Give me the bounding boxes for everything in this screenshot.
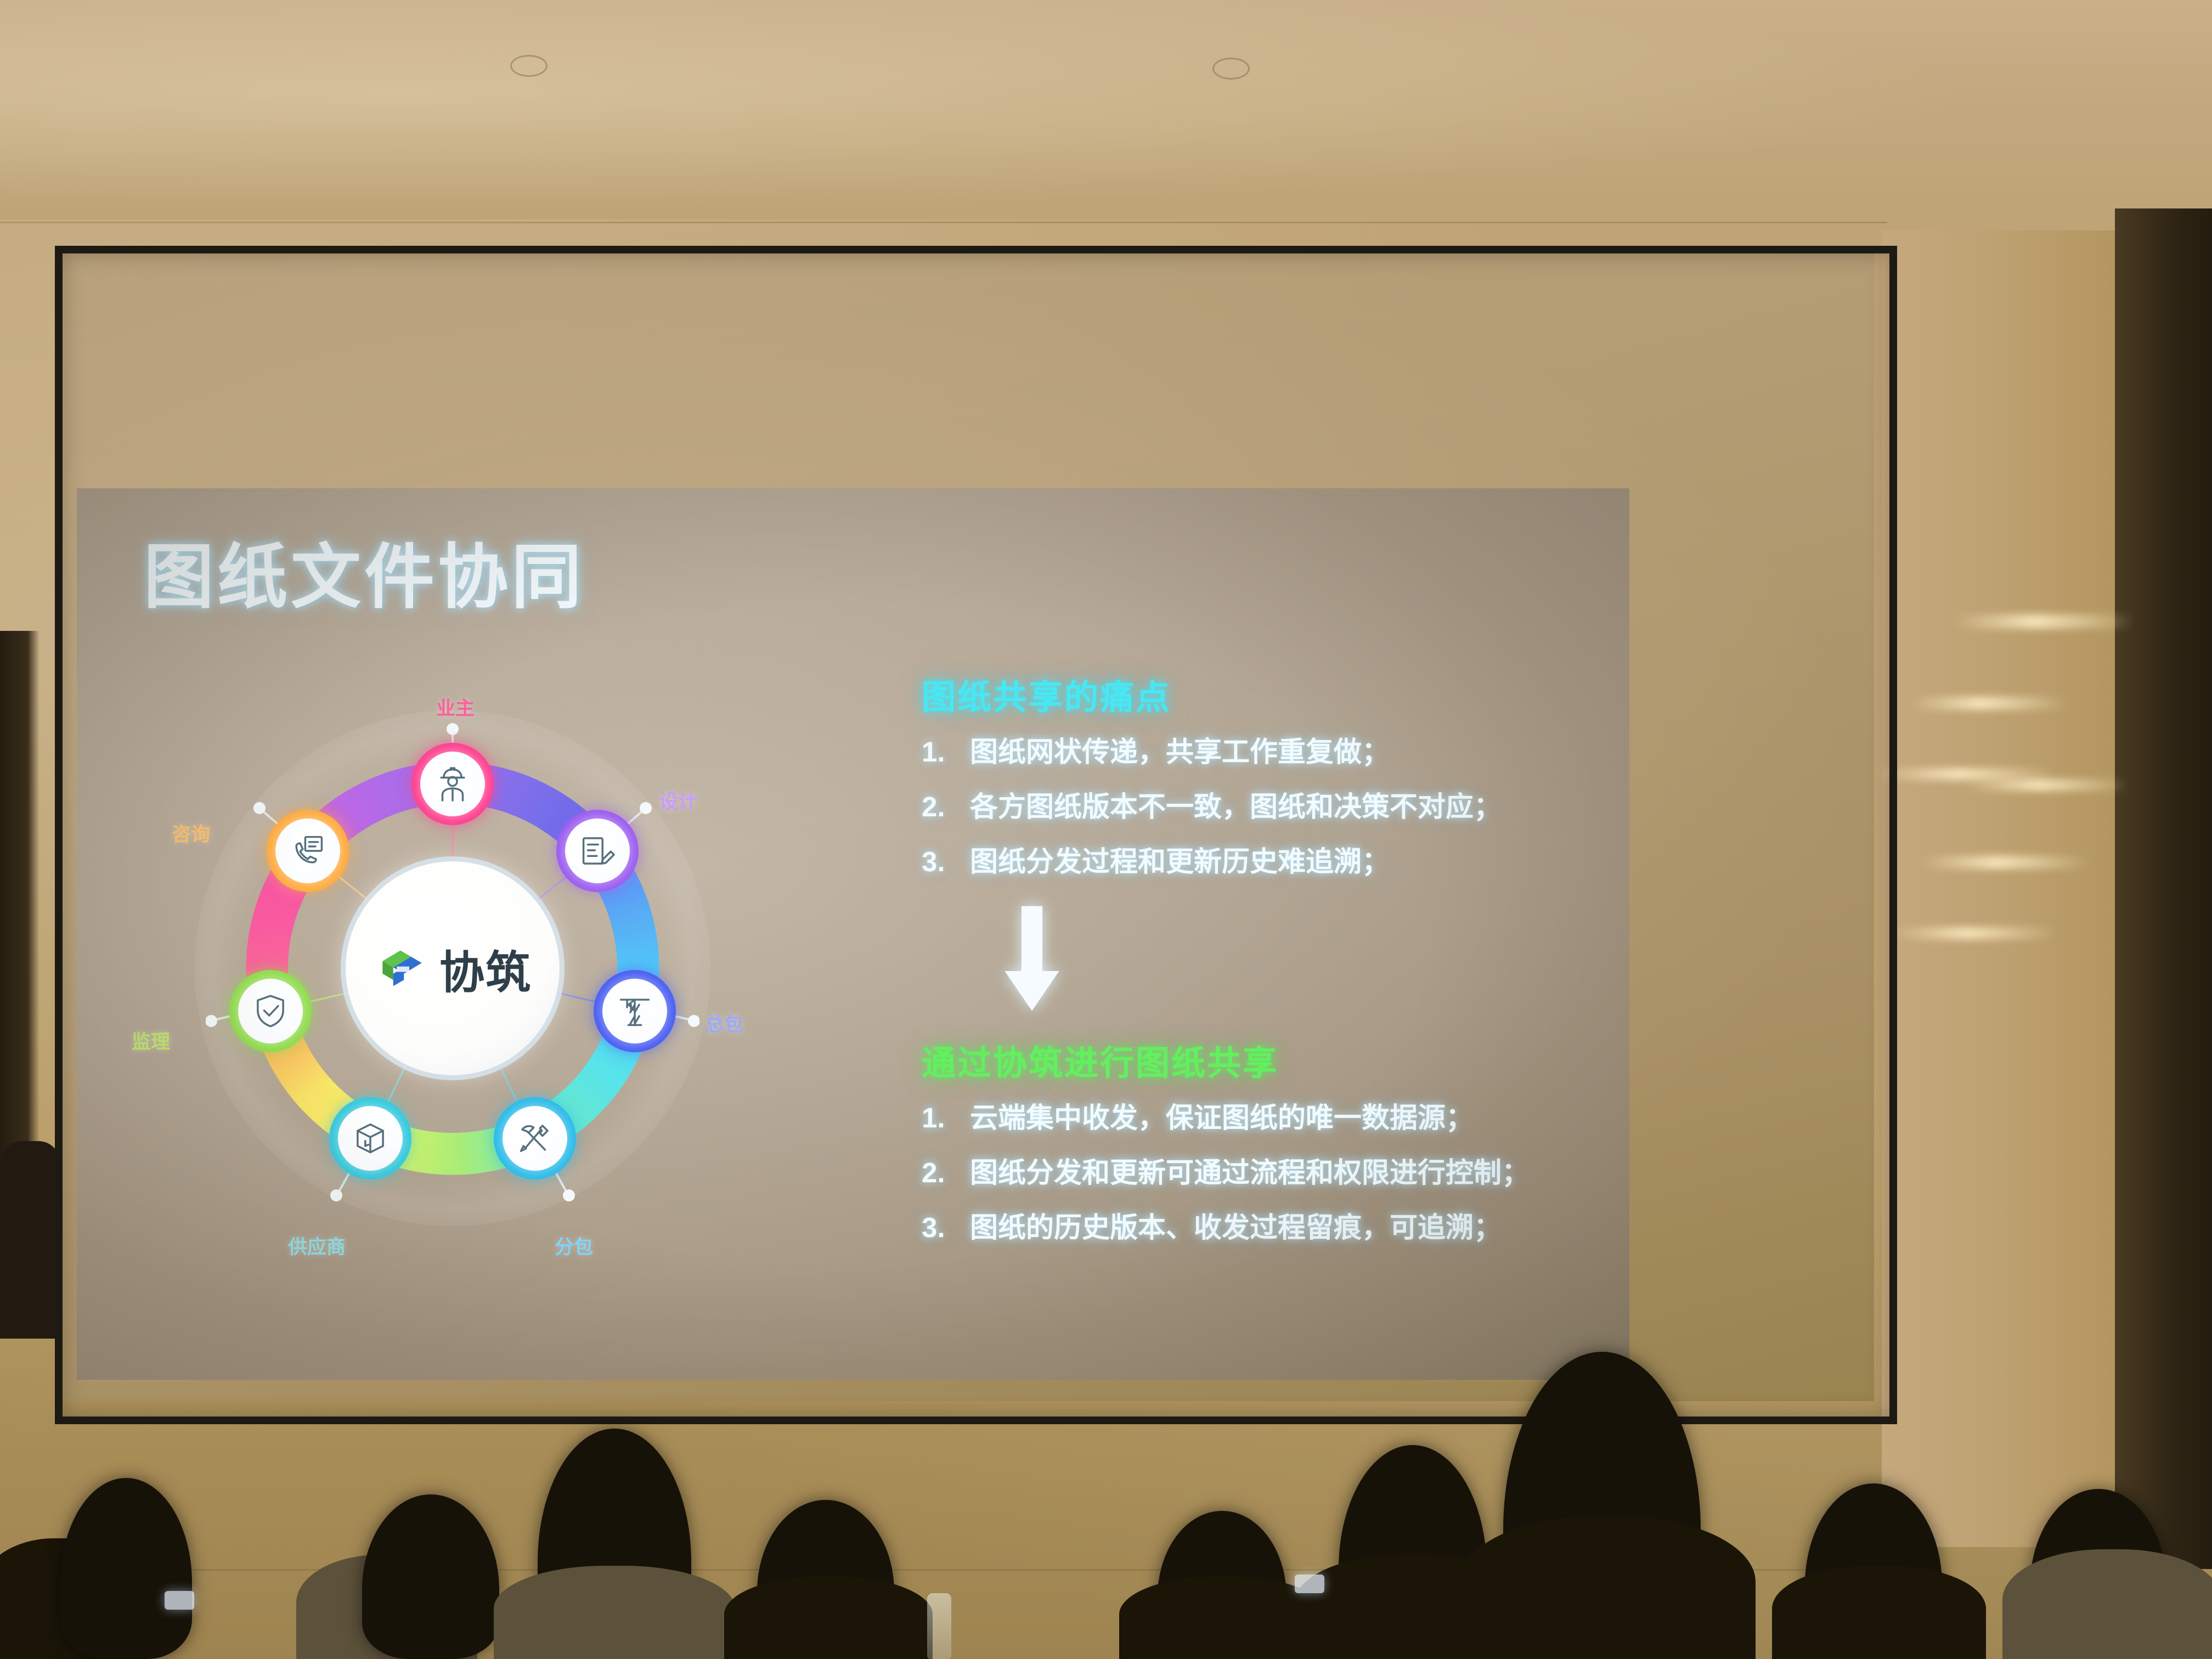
- slide-title: 图纸文件协同: [144, 520, 585, 622]
- solution-item-1-number: 1.: [922, 1103, 956, 1133]
- solution-block-heading: 通过协筑进行图纸共享: [922, 1035, 1580, 1085]
- down-arrow-icon: [1000, 902, 1064, 1017]
- node-icon-wrap-subcontractor: [503, 1106, 567, 1171]
- projected-slide: 图纸文件协同: [77, 488, 1629, 1380]
- ring-wrapper: 业主: [206, 721, 699, 1215]
- pain-item-3: 3. 图纸分发过程和更新历史难追溯；: [922, 847, 1580, 877]
- ring-node-supervisor[interactable]: [229, 970, 312, 1052]
- ring-node-label-design: 设计: [659, 786, 697, 814]
- wall-light-streak-5: [1920, 856, 2090, 869]
- pain-item-1-number: 1.: [922, 737, 956, 767]
- node-icon-wrap-owner: [420, 752, 485, 816]
- node-icon-wrap-design: [565, 819, 630, 883]
- solution-item-2-number: 2.: [922, 1158, 956, 1188]
- ring-node-design[interactable]: [556, 810, 639, 892]
- left-standing-person: [0, 1141, 60, 1339]
- wall-light-streak-4: [1964, 779, 2129, 791]
- ring-node-label-subcontractor: 分包: [555, 1232, 593, 1260]
- tower-crane-icon: [614, 991, 655, 1031]
- wall-light-streak-6: [1893, 927, 2057, 939]
- ring-node-label-supplier: 供应商: [288, 1232, 346, 1260]
- pain-items-list: 1. 图纸网状传递，共享工作重复做； 2. 各方图纸版本不一致，图纸和决策不对应…: [922, 737, 1580, 877]
- shield-check-icon: [250, 991, 291, 1031]
- wall-light-streak-2: [1909, 697, 2068, 710]
- solution-item-3: 3. 图纸的历史版本、收发过程留痕，可追溯；: [922, 1213, 1580, 1243]
- ring-node-label-owner: 业主: [436, 693, 475, 721]
- ecosystem-ring-diagram: 业主: [99, 669, 812, 1339]
- center-hub: 协筑: [346, 861, 560, 1075]
- ring-node-consultant[interactable]: [267, 810, 349, 892]
- wall-seam-top: [0, 222, 1887, 223]
- ceiling-wall: [0, 0, 2212, 230]
- solution-item-3-text: 图纸的历史版本、收发过程留痕，可追溯；: [970, 1213, 1502, 1243]
- wall-seam-bottom: [0, 1569, 1882, 1571]
- center-hub-label: 协筑: [439, 936, 532, 1001]
- pain-item-2-number: 2.: [922, 792, 956, 822]
- pain-item-1: 1. 图纸网状传递，共享工作重复做；: [922, 737, 1580, 767]
- ring-node-label-consultant: 咨询: [172, 819, 210, 847]
- xiezhu-cube-logo-icon: [374, 940, 431, 997]
- blueprint-pencil-icon: [577, 831, 618, 871]
- slide-text-column: 图纸共享的痛点 1. 图纸网状传递，共享工作重复做； 2. 各方图纸版本不一致，…: [922, 669, 1580, 1268]
- solution-item-1-text: 云端集中收发，保证图纸的唯一数据源；: [970, 1103, 1474, 1133]
- solution-item-2: 2. 图纸分发和更新可通过流程和权限进行控制；: [922, 1158, 1580, 1188]
- pain-item-3-number: 3.: [922, 847, 956, 877]
- ring-node-label-general-contractor: 总包: [705, 1009, 743, 1037]
- pain-block-heading: 图纸共享的痛点: [922, 669, 1580, 719]
- package-box-icon: [350, 1118, 391, 1159]
- pain-item-1-text: 图纸网状传递，共享工作重复做；: [970, 737, 1390, 767]
- hard-hat-worker-icon: [432, 764, 473, 804]
- pain-item-2-text: 各方图纸版本不一致，图纸和决策不对应；: [970, 792, 1502, 822]
- ring-node-general-contractor[interactable]: [594, 970, 676, 1052]
- hammer-wrench-icon: [515, 1118, 555, 1159]
- phone-handset-icon: [287, 831, 328, 871]
- node-icon-wrap-consultant: [275, 819, 340, 883]
- solution-item-3-number: 3.: [922, 1213, 956, 1243]
- pain-item-3-text: 图纸分发过程和更新历史难追溯；: [970, 847, 1390, 877]
- wall-light-streak-1: [1953, 614, 2134, 629]
- right-wall-shadow: [2115, 208, 2212, 1569]
- wall-light-streak-3: [1876, 768, 2057, 780]
- solution-items-list: 1. 云端集中收发，保证图纸的唯一数据源； 2. 图纸分发和更新可通过流程和权限…: [922, 1103, 1580, 1243]
- solution-item-1: 1. 云端集中收发，保证图纸的唯一数据源；: [922, 1103, 1580, 1133]
- ceiling-vent-left: [510, 55, 548, 77]
- right-pillar: [1882, 230, 2118, 1547]
- ring-node-supplier[interactable]: [329, 1097, 411, 1180]
- photo-canvas: 图纸文件协同: [0, 0, 2212, 1659]
- ring-node-owner[interactable]: [411, 743, 494, 825]
- transition-arrow: [1000, 902, 1580, 1020]
- node-icon-wrap-supervisor: [238, 979, 303, 1043]
- ring-node-subcontractor[interactable]: [494, 1097, 576, 1180]
- solution-item-2-text: 图纸分发和更新可通过流程和权限进行控制；: [970, 1158, 1530, 1188]
- ceiling-vent-right: [1212, 58, 1250, 80]
- node-icon-wrap-supplier: [338, 1106, 403, 1171]
- pain-item-2: 2. 各方图纸版本不一致，图纸和决策不对应；: [922, 792, 1580, 822]
- node-icon-wrap-general-contractor: [602, 979, 667, 1043]
- ring-node-label-supervisor: 监理: [132, 1026, 170, 1054]
